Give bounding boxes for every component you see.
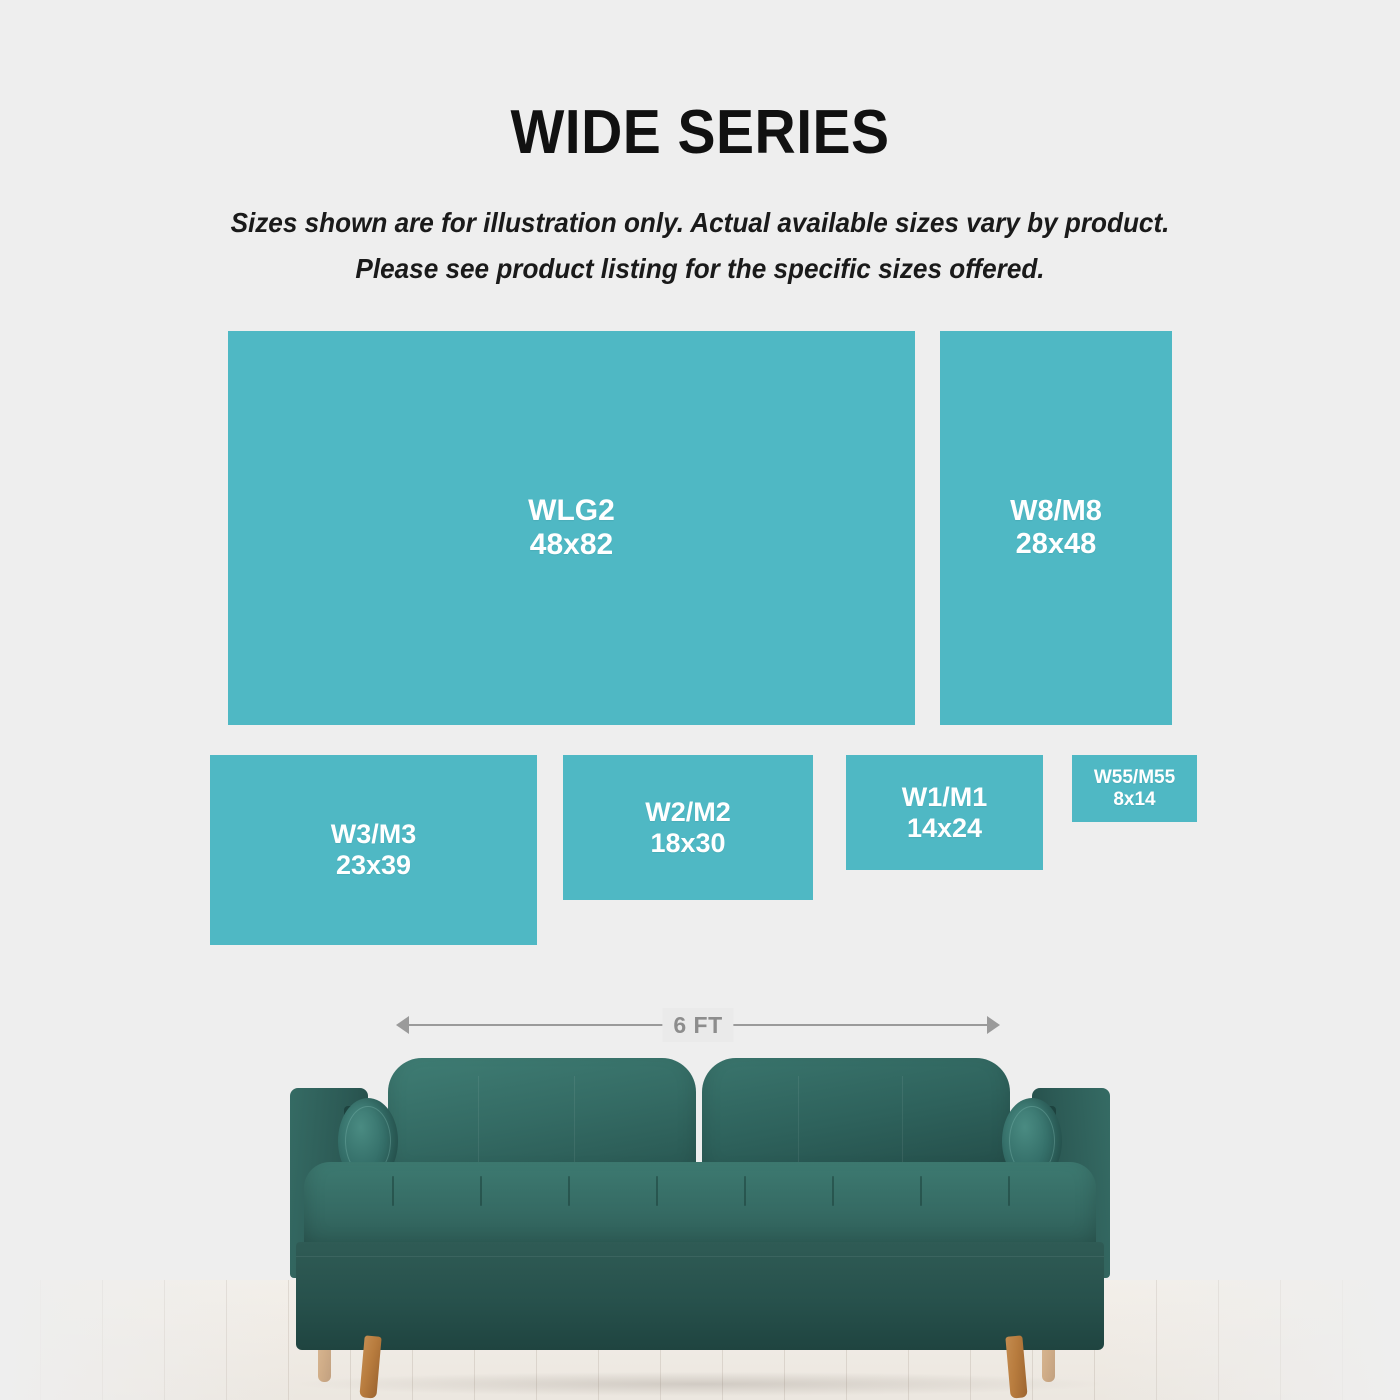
size-dims: 23x39: [336, 850, 411, 881]
seat-tuft: [744, 1176, 746, 1206]
scale-label: 6 FT: [662, 1008, 733, 1042]
seat-tuft: [568, 1176, 570, 1206]
cushion-crease: [478, 1076, 479, 1162]
size-code: W2/M2: [645, 797, 731, 828]
size-code: W55/M55: [1094, 767, 1175, 789]
floor-fade-left: [0, 1280, 300, 1400]
size-swatch-w55-m55[interactable]: W55/M55 8x14: [1072, 755, 1197, 822]
sofa-base-skirt: [296, 1242, 1104, 1350]
seat-tuft: [480, 1176, 482, 1206]
size-dims: 28x48: [1016, 528, 1097, 561]
size-swatch-w3-m3[interactable]: W3/M3 23x39: [210, 755, 537, 945]
size-dims: 8x14: [1113, 789, 1155, 811]
size-swatch-w8-m8[interactable]: W8/M8 28x48: [940, 331, 1172, 725]
size-code: W1/M1: [902, 782, 988, 813]
page-title: WIDE SERIES: [56, 97, 1344, 168]
size-chart-page: WIDE SERIES Sizes shown are for illustra…: [0, 0, 1400, 1400]
sofa-shadow: [300, 1372, 1100, 1396]
size-swatch-wlg2[interactable]: WLG2 48x82: [228, 331, 915, 725]
scale-bar: 6 FT: [396, 1008, 1000, 1042]
arrow-right-icon: [987, 1016, 1000, 1034]
size-code: W8/M8: [1010, 495, 1102, 528]
sofa-illustration: [290, 1058, 1110, 1398]
cushion-crease: [574, 1076, 575, 1162]
floor-fade-right: [1100, 1280, 1400, 1400]
size-code: W3/M3: [331, 819, 417, 850]
size-swatch-w1-m1[interactable]: W1/M1 14x24: [846, 755, 1043, 870]
cushion-crease: [798, 1076, 799, 1162]
seat-tuft: [392, 1176, 394, 1206]
size-swatch-w2-m2[interactable]: W2/M2 18x30: [563, 755, 813, 900]
cushion-crease: [902, 1076, 903, 1162]
arrow-left-icon: [396, 1016, 409, 1034]
subtitle-line-1: Sizes shown are for illustration only. A…: [35, 200, 1365, 246]
sofa-scene: [0, 1040, 1400, 1400]
seat-tuft: [656, 1176, 658, 1206]
seat-tuft: [920, 1176, 922, 1206]
size-code: WLG2: [528, 494, 615, 528]
size-dims: 48x82: [530, 528, 613, 562]
seat-tuft: [832, 1176, 834, 1206]
subtitle-disclaimer: Sizes shown are for illustration only. A…: [35, 200, 1365, 292]
size-dims: 18x30: [650, 828, 725, 859]
size-dims: 14x24: [907, 813, 982, 844]
seat-tuft: [1008, 1176, 1010, 1206]
subtitle-line-2: Please see product listing for the speci…: [35, 246, 1365, 292]
